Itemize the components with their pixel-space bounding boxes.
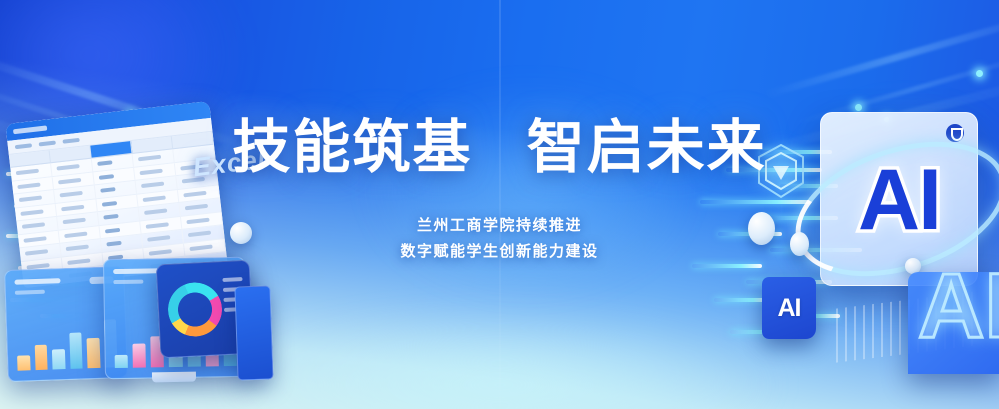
ai-card-label: AI xyxy=(778,294,801,323)
glow-dot xyxy=(855,104,862,111)
subtitle-line-1: 兰州工商学院持续推进 xyxy=(0,213,999,239)
page-title: 技能筑基 智启未来 xyxy=(0,118,999,179)
ai-app-card: AI xyxy=(762,277,816,339)
subtitle-line-2: 数字赋能学生创新能力建设 xyxy=(0,239,999,265)
card-label xyxy=(14,278,60,285)
monitor-stand xyxy=(152,372,196,383)
bar-chart-icon xyxy=(15,301,117,370)
ai-outline-card: AI xyxy=(908,272,999,374)
card-label xyxy=(113,268,159,274)
headline-block: 技能筑基 智启未来 兰州工商学院持续推进 数字赋能学生创新能力建设 xyxy=(0,118,999,264)
donut-chart-icon xyxy=(167,281,224,338)
promo-banner: Excel xyxy=(0,0,999,409)
light-band xyxy=(765,9,999,98)
title-line-1: 技能筑基 xyxy=(232,115,472,180)
ai-outline-label: AI xyxy=(918,272,999,352)
title-line-2: 智启未来 xyxy=(527,115,767,180)
card-sublabel xyxy=(113,280,143,285)
device-card xyxy=(234,285,273,380)
glow-dot xyxy=(976,70,983,77)
subtitle: 兰州工商学院持续推进 数字赋能学生创新能力建设 xyxy=(0,213,999,265)
card-sublabel xyxy=(15,290,45,295)
